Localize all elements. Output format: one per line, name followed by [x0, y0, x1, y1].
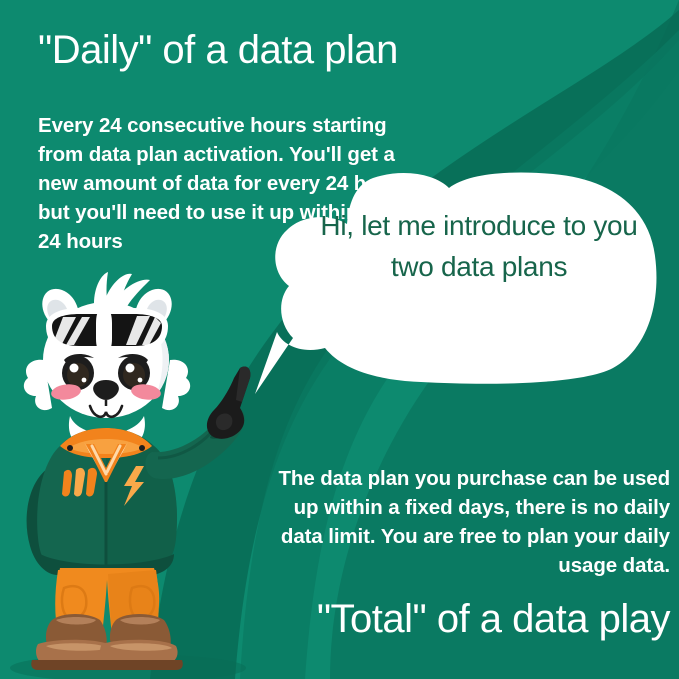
- mascot-jacket-button-right: [139, 445, 145, 451]
- speech-bubble-text: Hi, let me introduce to you two data pla…: [311, 205, 647, 287]
- poster-root: "Daily" of a data plan Every 24 consecut…: [0, 0, 679, 679]
- mascot-jacket-button-left: [67, 445, 73, 451]
- speech-bubble: Hi, let me introduce to you two data pla…: [253, 172, 663, 398]
- mascot-chest-logo-icon: [62, 468, 97, 497]
- ski-goggles-icon: [46, 308, 168, 352]
- mascot-illustration: [8, 268, 288, 679]
- mascot-hair-tuft-c: [94, 272, 108, 306]
- mascot-boot-right: [95, 614, 183, 670]
- page-title-daily: "Daily" of a data plan: [38, 29, 538, 71]
- mascot-pointing-glove-icon: [207, 366, 250, 438]
- total-description-text: The data plan you purchase can be used u…: [274, 464, 670, 580]
